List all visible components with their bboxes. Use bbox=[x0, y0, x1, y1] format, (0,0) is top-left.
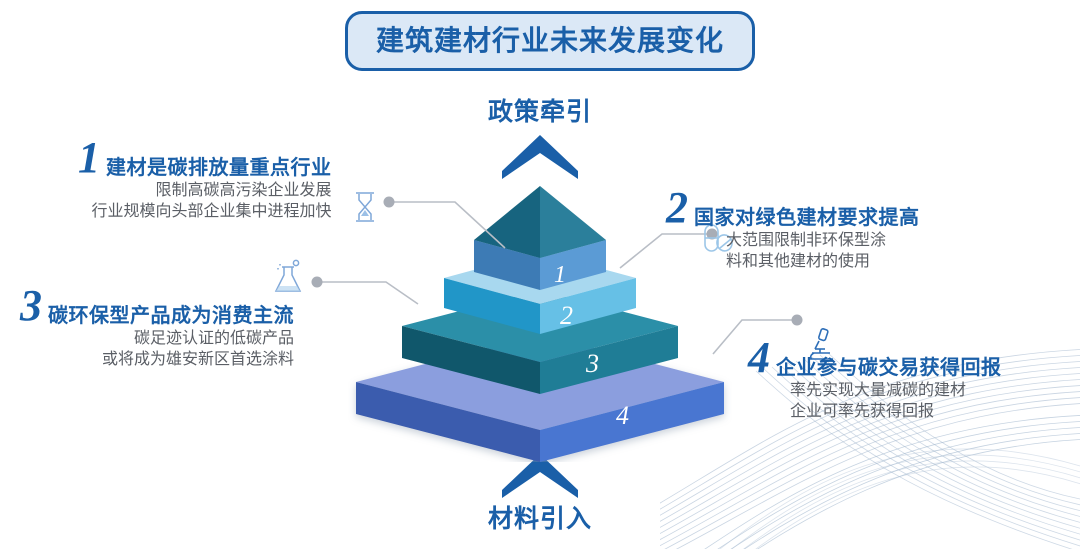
chevron-up-icon-top bbox=[500, 133, 580, 181]
callout-4-head-row: 4 企业参与碳交易获得回报 bbox=[748, 336, 1002, 380]
pyramid-level-2-number: 2 bbox=[560, 301, 573, 330]
callout-1-head-row: 1 建材是碳排放量重点行业 bbox=[78, 136, 332, 180]
callout-4: 4 企业参与碳交易获得回报 率先实现大量减碳的建材 企业可率先获得回报 bbox=[748, 336, 1002, 422]
callout-4-line-1: 率先实现大量减碳的建材 bbox=[790, 380, 1002, 401]
callout-1: 1 建材是碳排放量重点行业 限制高碳高污染企业发展 行业规模向头部企业集中进程加… bbox=[78, 136, 332, 222]
callout-2-line-2: 料和其他建材的使用 bbox=[726, 251, 920, 272]
page-title-box: 建筑建材行业未来发展变化 bbox=[345, 11, 755, 71]
callout-2-heading: 国家对绿色建材要求提高 bbox=[694, 201, 920, 230]
callout-1-line-2: 行业规模向头部企业集中进程加快 bbox=[78, 201, 332, 222]
pyramid-level-4-number: 4 bbox=[616, 401, 629, 430]
flow-label-top: 政策牵引 bbox=[440, 92, 640, 128]
infographic-canvas: 建筑建材行业未来发展变化 政策牵引 材料引入 4 bbox=[0, 0, 1080, 549]
hourglass-icon bbox=[352, 190, 378, 224]
callout-4-heading: 企业参与碳交易获得回报 bbox=[776, 351, 1002, 380]
callout-3-number: 3 bbox=[20, 284, 42, 328]
callout-3-head-row: 3 碳环保型产品成为消费主流 bbox=[20, 284, 294, 328]
callout-1-heading: 建材是碳排放量重点行业 bbox=[106, 151, 332, 180]
callout-2-number: 2 bbox=[666, 186, 688, 230]
callout-1-number: 1 bbox=[78, 136, 100, 180]
callout-2: 2 国家对绿色建材要求提高 大范围限制非环保型涂 料和其他建材的使用 bbox=[666, 186, 920, 272]
callout-4-number: 4 bbox=[748, 336, 770, 380]
callout-3-line-1: 碳足迹认证的低碳产品 bbox=[20, 328, 294, 349]
callout-1-line-1: 限制高碳高污染企业发展 bbox=[78, 180, 332, 201]
callout-2-head-row: 2 国家对绿色建材要求提高 bbox=[666, 186, 920, 230]
callout-3-heading: 碳环保型产品成为消费主流 bbox=[48, 299, 294, 328]
flow-label-bottom: 材料引入 bbox=[440, 499, 640, 535]
page-title: 建筑建材行业未来发展变化 bbox=[376, 27, 724, 55]
callout-3: 3 碳环保型产品成为消费主流 碳足迹认证的低碳产品 或将成为雄安新区首选涂料 bbox=[20, 284, 294, 370]
connector-dot-4 bbox=[792, 315, 803, 326]
connector-dot-3 bbox=[312, 277, 323, 288]
pyramid-level-3-number: 3 bbox=[585, 349, 599, 378]
callout-3-line-2: 或将成为雄安新区首选涂料 bbox=[20, 349, 294, 370]
callout-2-line-1: 大范围限制非环保型涂 bbox=[726, 230, 920, 251]
callout-4-line-2: 企业可率先获得回报 bbox=[790, 401, 1002, 422]
pyramid-level-1-number: 1 bbox=[554, 262, 566, 288]
